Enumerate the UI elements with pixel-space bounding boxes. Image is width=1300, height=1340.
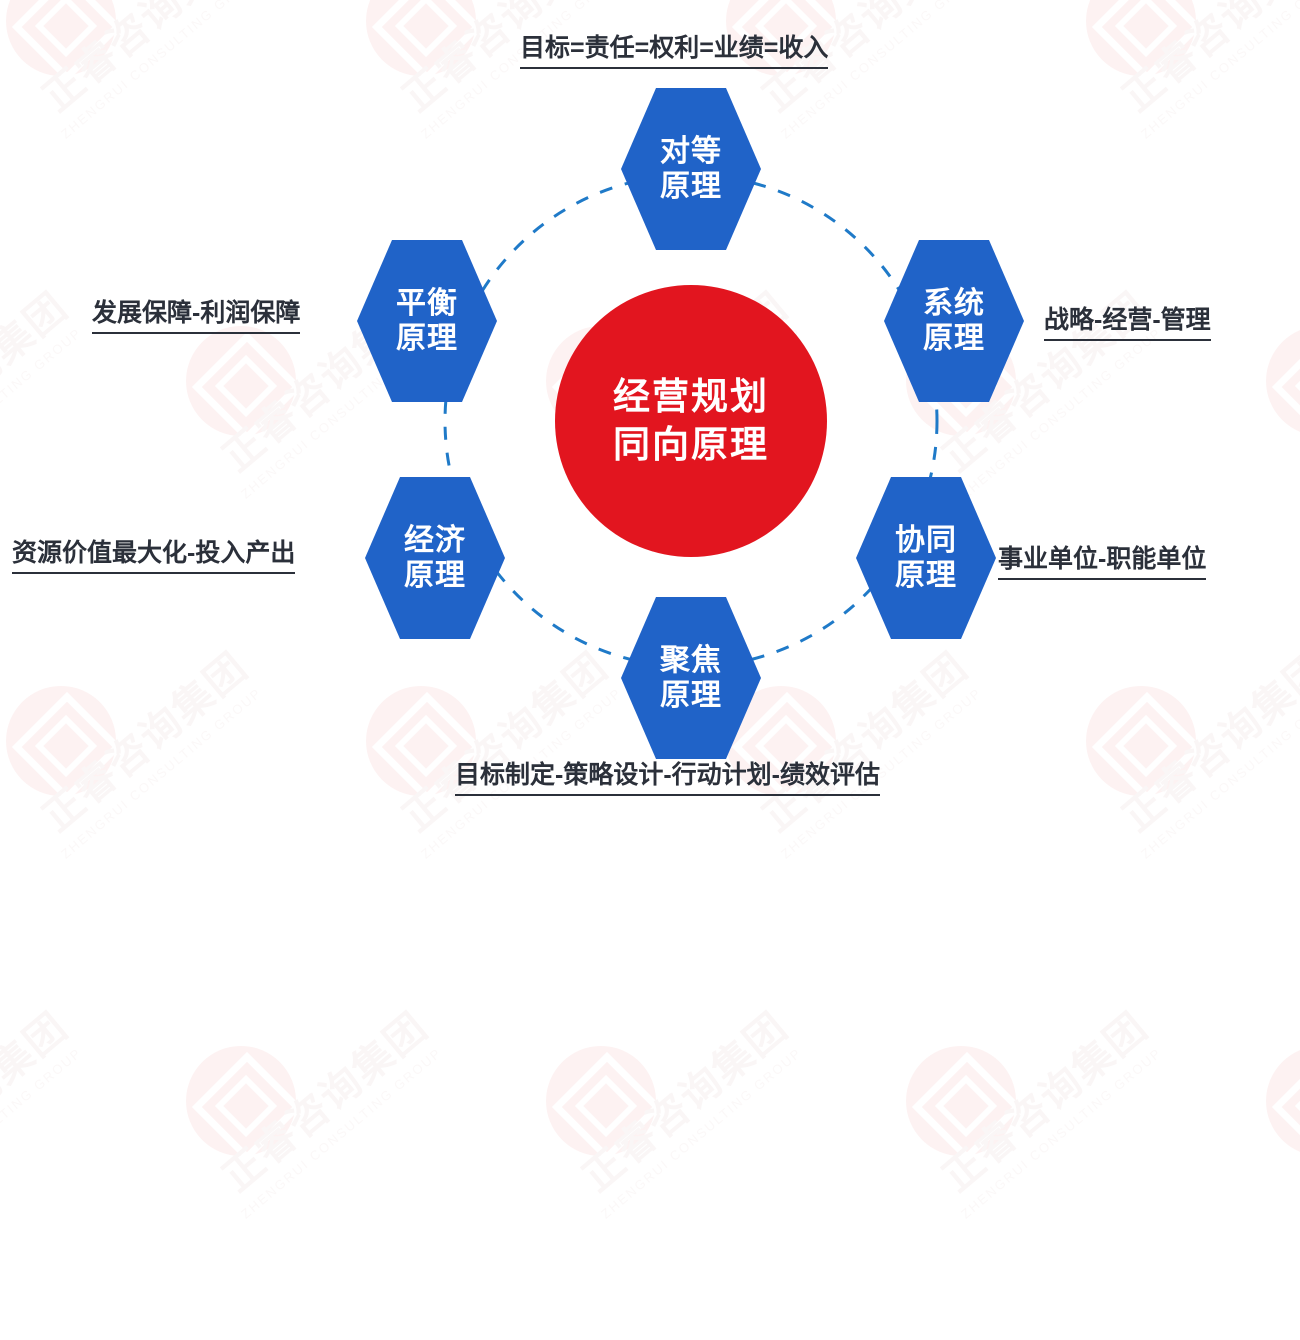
watermark-tile: 正睿咨询集团ZHENGRUI CONSULTING GROUP <box>0 1040 120 1340</box>
hexagon-label-line-1: 经济 <box>404 523 466 558</box>
watermark-sub-text: ZHENGRUI CONSULTING GROUP <box>958 1045 1165 1222</box>
caption-right-upper: 战略-经营-管理 <box>1044 300 1211 341</box>
hexagon-label-line-1: 对等 <box>660 134 722 169</box>
caption-right-lower: 事业单位-职能单位 <box>998 539 1206 580</box>
hexagon-label-line-1: 聚焦 <box>660 643 722 678</box>
zhengrui-logo-icon <box>1266 1046 1300 1156</box>
center-title-line-1: 经营规划 <box>613 373 769 421</box>
center-title-line-2: 同向原理 <box>613 421 769 469</box>
watermark-tile: 正睿咨询集团ZHENGRUI CONSULTING GROUP <box>540 1040 840 1340</box>
watermark-brand-text: 正睿咨询集团 <box>1288 996 1300 1202</box>
caption-left-upper: 发展保障-利润保障 <box>92 293 300 334</box>
hexagon-label-line-2: 原理 <box>923 321 985 356</box>
hexagon-label-line-2: 原理 <box>660 678 722 713</box>
hexagon-label-line-2: 原理 <box>404 558 466 593</box>
watermark-brand-text: 正睿咨询集团 <box>208 996 438 1202</box>
watermark-brand-text: 正睿咨询集团 <box>0 996 78 1202</box>
hexagon-label-line-1: 协同 <box>895 523 957 558</box>
watermark-sub-text: ZHENGRUI CONSULTING GROUP <box>0 1045 85 1222</box>
zhengrui-logo-icon <box>906 1046 1016 1156</box>
caption-top: 目标=责任=权利=业绩=收入 <box>520 28 828 69</box>
watermark-tile: 正睿咨询集团ZHENGRUI CONSULTING GROUP <box>1260 1040 1300 1340</box>
hexagon-label-line-1: 系统 <box>923 286 985 321</box>
hexagon-label-line-2: 原理 <box>895 558 957 593</box>
watermark-tile: 正睿咨询集团ZHENGRUI CONSULTING GROUP <box>180 1040 480 1340</box>
watermark-brand-text: 正睿咨询集团 <box>568 996 798 1202</box>
watermark-brand-text: 正睿咨询集团 <box>928 996 1158 1202</box>
principle-diagram: 经营规划 同向原理 对等 原理 系统 原理 协同 原理 聚焦 原理 经济 原理 … <box>0 0 1300 864</box>
hexagon-label-line-2: 原理 <box>396 321 458 356</box>
watermark-sub-text: ZHENGRUI CONSULTING GROUP <box>598 1045 805 1222</box>
caption-left-lower: 资源价值最大化-投入产出 <box>12 533 295 574</box>
center-circle: 经营规划 同向原理 <box>555 285 827 557</box>
watermark-sub-text: ZHENGRUI CONSULTING GROUP <box>238 1045 445 1222</box>
watermark-tile: 正睿咨询集团ZHENGRUI CONSULTING GROUP <box>900 1040 1200 1340</box>
zhengrui-logo-icon <box>546 1046 656 1156</box>
zhengrui-logo-icon <box>186 1046 296 1156</box>
caption-bottom: 目标制定-策略设计-行动计划-绩效评估 <box>455 755 880 796</box>
hexagon-label-line-1: 平衡 <box>396 286 458 321</box>
hexagon-label-line-2: 原理 <box>660 169 722 204</box>
